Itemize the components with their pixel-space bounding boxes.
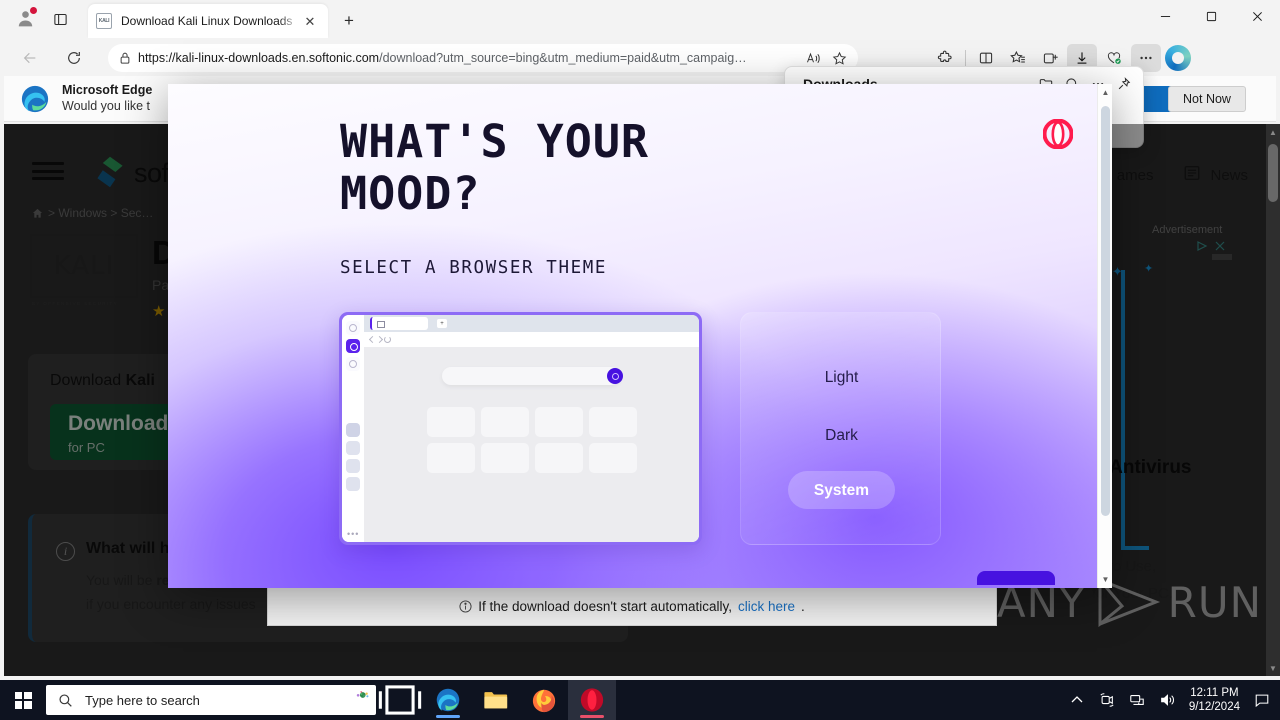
firefox-icon[interactable] (520, 680, 568, 720)
show-hidden-icons-icon[interactable] (1069, 692, 1085, 708)
preview-speed-dial (427, 407, 637, 473)
nav-games-label: ames (1117, 167, 1154, 184)
tab-title: Download Kali Linux Downloads (121, 14, 300, 28)
preview-sidebar-icon-3 (346, 357, 360, 371)
adchoices-badge (1212, 254, 1232, 260)
refresh-button[interactable] (58, 42, 90, 74)
copilot-icon[interactable] (1163, 44, 1193, 72)
tab-actions-button[interactable] (48, 7, 73, 32)
browser-preview-mockup: ••• + (339, 312, 702, 545)
home-icon (32, 208, 43, 219)
window-controls (1142, 0, 1280, 38)
new-tab-button[interactable]: + (336, 9, 362, 33)
info-icon: i (56, 542, 75, 561)
network-icon[interactable] (1129, 692, 1145, 708)
preview-sidebar-icon-4 (346, 423, 360, 437)
preview-sidebar-icon-1 (346, 321, 360, 335)
download-card-title: Download Kali (50, 372, 155, 390)
volume-icon[interactable] (1159, 692, 1175, 708)
promo-frame (1121, 270, 1149, 550)
clock-date: 9/12/2024 (1189, 700, 1240, 714)
preview-sidebar: ••• (342, 315, 364, 542)
app-logo: KALI (30, 234, 138, 298)
opera-theme-dialog: WHAT'S YOUR MOOD? SELECT A BROWSER THEME… (168, 84, 1112, 588)
windows-start-icon[interactable] (0, 680, 46, 720)
ad-close-icon (1214, 240, 1226, 252)
preview-tab (370, 317, 428, 330)
profile-button[interactable] (12, 6, 38, 32)
url-host: https://kali-linux-downloads.en.softonic… (138, 51, 379, 65)
tab-strip: KALI Download Kali Linux Downloads ✕ + (0, 0, 1280, 38)
address-bar[interactable]: https://kali-linux-downloads.en.softonic… (108, 44, 858, 72)
sparkle-icon-2: ✦ (1144, 262, 1153, 275)
dialog-scrollbar[interactable]: ▲ ▼ (1097, 84, 1112, 588)
url-path: /download?utm_source=bing&utm_medium=pai… (379, 51, 747, 65)
app-logo-text: KALI (54, 251, 115, 281)
nav-item-games[interactable]: ames (1117, 167, 1154, 184)
download-button-sublabel: for PC (68, 440, 105, 455)
edge-prompt-title: Microsoft Edge (62, 83, 152, 99)
dialog-scroll-up-icon[interactable]: ▲ (1098, 84, 1112, 101)
dialog-heading: WHAT'S YOUR MOOD? (340, 116, 810, 220)
close-icon[interactable] (1234, 0, 1280, 32)
info-card-title: What will ha (86, 540, 178, 558)
download-button-label: Download (68, 412, 168, 436)
download-notice-text: If the download doesn't start automatica… (478, 599, 732, 614)
preview-forward-icon (376, 336, 383, 343)
back-button[interactable] (14, 42, 46, 74)
info-line1-plain: You will be (86, 572, 156, 588)
search-icon (58, 693, 73, 708)
system-tray: 12:11 PM 9/12/2024 (1069, 686, 1280, 714)
scroll-down-icon[interactable]: ▼ (1266, 660, 1280, 676)
dialog-scroll-down-icon[interactable]: ▼ (1098, 571, 1112, 588)
preview-window: ••• + (342, 315, 699, 542)
preview-search-button-icon (607, 368, 623, 384)
anyrun-agent-icon[interactable] (1099, 692, 1115, 708)
preview-tile (589, 407, 637, 437)
page-scrollbar[interactable]: ▲ ▼ (1266, 124, 1280, 676)
softonic-nav: ames News (1117, 164, 1248, 186)
star-icon: ★ (152, 302, 165, 320)
screen: KALI Download Kali Linux Downloads ✕ + (0, 0, 1280, 720)
clock-time: 12:11 PM (1189, 686, 1240, 700)
file-explorer-icon[interactable] (472, 680, 520, 720)
preview-tile (481, 443, 529, 473)
browser-tab[interactable]: KALI Download Kali Linux Downloads ✕ (88, 4, 328, 38)
scroll-up-icon[interactable]: ▲ (1266, 124, 1280, 140)
preview-tile (427, 407, 475, 437)
theme-option-light[interactable]: Light (741, 369, 942, 387)
pin-icon[interactable] (1111, 71, 1137, 97)
preview-reload-icon (384, 336, 391, 343)
breadcrumb-text: > Windows > Sec… (48, 206, 153, 220)
watermark-text-right: RUN (1168, 578, 1262, 627)
opera-logo-icon (1043, 119, 1073, 149)
search-doodle-icon (355, 687, 370, 702)
nav-news-label: News (1210, 167, 1248, 184)
advertisement-label: Advertisement (1152, 224, 1222, 236)
opera-icon[interactable] (568, 680, 616, 720)
search-input[interactable]: Type here to search (46, 685, 376, 715)
download-card-title-bold: Kali (126, 372, 155, 389)
news-icon (1183, 164, 1201, 186)
preview-sidebar-more-icon: ••• (347, 532, 359, 536)
scrollbar-thumb[interactable] (1268, 144, 1278, 202)
ad-badges[interactable] (1196, 240, 1226, 252)
preview-new-tab-icon: + (437, 319, 447, 328)
dialog-next-button[interactable] (977, 571, 1055, 585)
theme-option-system-label: System (814, 482, 869, 500)
info-card-line2: if you encounter any issues (86, 596, 256, 612)
edge-active-indicator (436, 715, 460, 718)
info-card-line1: You will be re (86, 572, 170, 588)
theme-option-system[interactable]: System (741, 473, 942, 509)
nav-item-news[interactable]: News (1183, 164, 1248, 186)
preview-sidebar-icon-7 (346, 477, 360, 491)
preview-tile (481, 407, 529, 437)
adchoices-play-icon (1196, 240, 1208, 252)
tab-favicon-icon: KALI (96, 13, 112, 29)
preview-sidebar-icon-5 (346, 441, 360, 455)
theme-selector-panel: Light Dark System (740, 312, 941, 545)
minimize-icon[interactable] (1142, 0, 1188, 32)
preview-page-body (364, 347, 699, 542)
dialog-subheading: SELECT A BROWSER THEME (340, 258, 607, 278)
url-text: https://kali-linux-downloads.en.softonic… (138, 51, 800, 65)
preview-tile (535, 443, 583, 473)
preview-sidebar-icon-6 (346, 459, 360, 473)
theme-option-dark[interactable]: Dark (741, 427, 942, 445)
preview-search-field (442, 367, 620, 385)
preview-sidebar-icon-selected (346, 339, 360, 353)
download-notice-link[interactable]: click here (738, 599, 795, 614)
preview-tab-bar: + (364, 315, 699, 332)
toolbar-separator (965, 50, 966, 66)
notifications-icon[interactable] (1254, 692, 1270, 708)
task-view-icon[interactable] (376, 680, 424, 720)
preview-tile (535, 407, 583, 437)
edge-icon (20, 84, 50, 114)
softonic-logo-icon (92, 154, 128, 190)
softonic-wordmark: sof (134, 158, 169, 189)
hamburger-menu-icon[interactable] (32, 158, 64, 184)
breadcrumb[interactable]: > Windows > Sec… (32, 206, 153, 220)
preview-tile (427, 443, 475, 473)
maximize-icon[interactable] (1188, 0, 1234, 32)
opera-active-indicator (580, 715, 604, 718)
dialog-scrollbar-thumb[interactable] (1101, 106, 1110, 516)
taskbar: Type here to search (0, 680, 1280, 720)
edge-prompt-text: Microsoft Edge Would you like t (62, 83, 152, 114)
clock[interactable]: 12:11 PM 9/12/2024 (1189, 686, 1240, 714)
opera-dialog-canvas: WHAT'S YOUR MOOD? SELECT A BROWSER THEME… (168, 84, 1097, 588)
edge-icon[interactable] (424, 680, 472, 720)
profile-alert-dot (30, 7, 37, 14)
app-logo-subtext: BY OFFENSIVE SECURITY (32, 301, 118, 306)
edge-prompt-subtitle: Would you like t (62, 99, 152, 115)
download-card-title-plain: Download (50, 372, 126, 389)
download-notice-bar: If the download doesn't start automatica… (267, 587, 997, 626)
sparkle-icon: ✦ (1112, 264, 1123, 280)
info-circle-icon (459, 600, 472, 613)
lock-icon (112, 46, 138, 70)
download-notice-tail: . (801, 599, 805, 614)
tab-close-icon[interactable]: ✕ (300, 11, 320, 31)
edge-prompt-notnow-button[interactable]: Not Now (1168, 86, 1246, 112)
preview-address-bar (364, 332, 699, 347)
preview-tile (589, 443, 637, 473)
search-placeholder: Type here to search (85, 693, 200, 708)
